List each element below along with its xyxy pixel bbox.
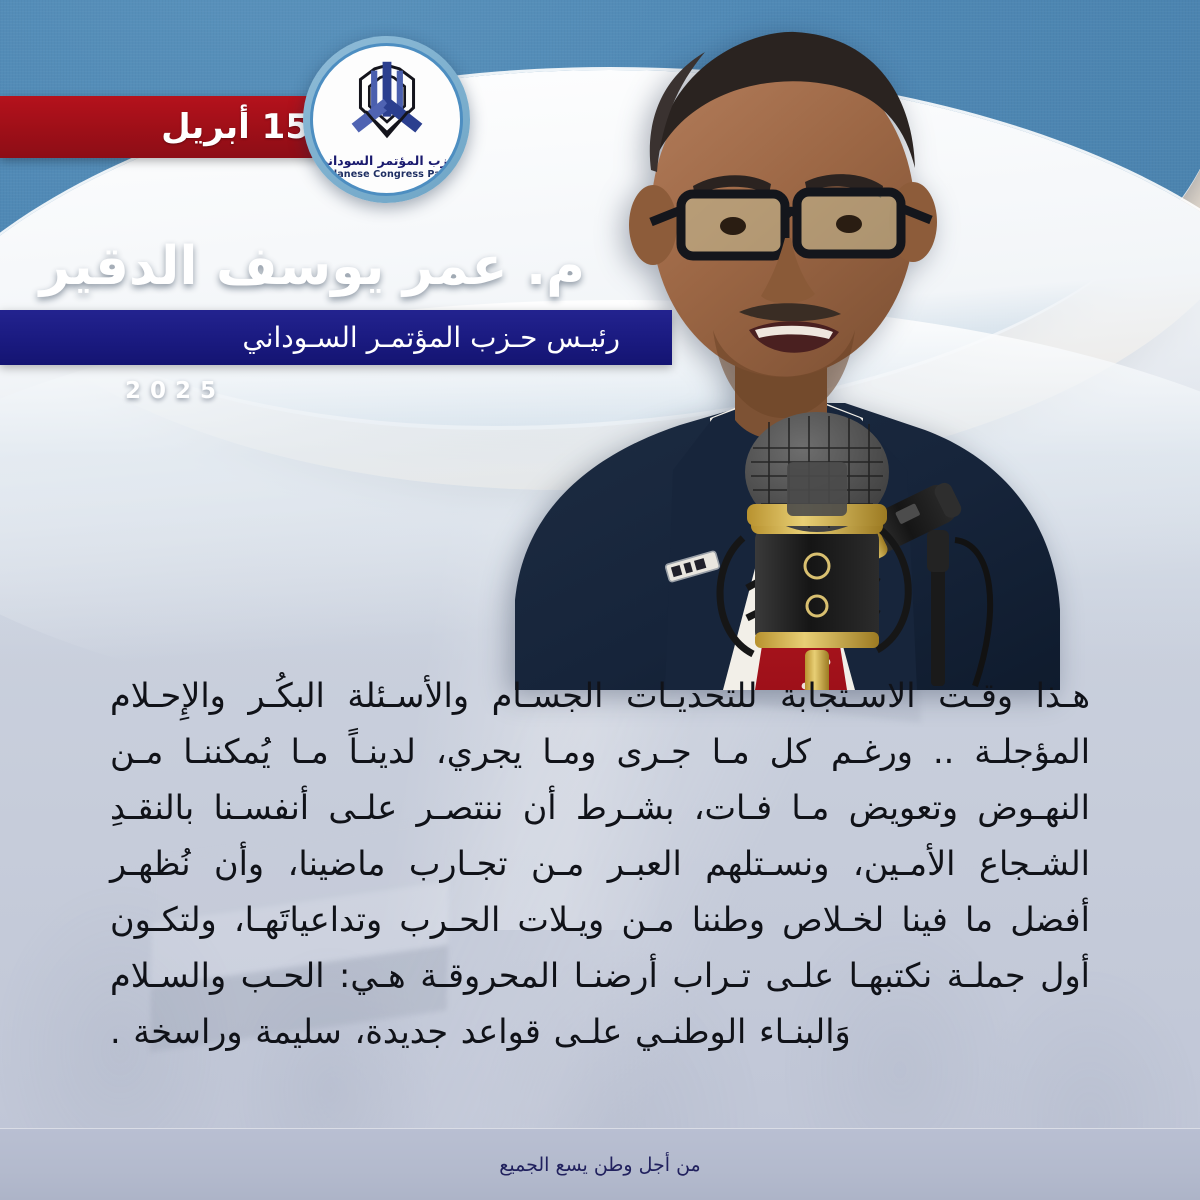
footer-slogan: من أجل وطن يسع الجميع [499, 1154, 701, 1176]
footer-bar: من أجل وطن يسع الجميع [0, 1128, 1200, 1200]
year-label: 2025 [125, 378, 225, 404]
poster-canvas: 15 أبريل حزب المؤتمر السوداني Sudanese C… [0, 0, 1200, 1200]
date-ribbon-label: 15 أبريل [161, 107, 309, 147]
speaker-title-label: رئيـس حـزب المؤتمـر السـوداني [242, 321, 620, 354]
party-logo: حزب المؤتمر السوداني Sudanese Congress P… [303, 36, 470, 203]
speaker-name: م. عمر يوسف الدقير [40, 236, 585, 297]
quote-body: هـذا وقـت الاسـتجابة للتحديـات الجسـام و… [110, 668, 1090, 1060]
logo-emblem-icon [333, 60, 441, 152]
logo-inner-disc: حزب المؤتمر السوداني Sudanese Congress P… [310, 43, 463, 196]
speaker-title-bar: رئيـس حـزب المؤتمـر السـوداني [0, 310, 672, 365]
logo-arabic-name: حزب المؤتمر السوداني [316, 153, 458, 168]
